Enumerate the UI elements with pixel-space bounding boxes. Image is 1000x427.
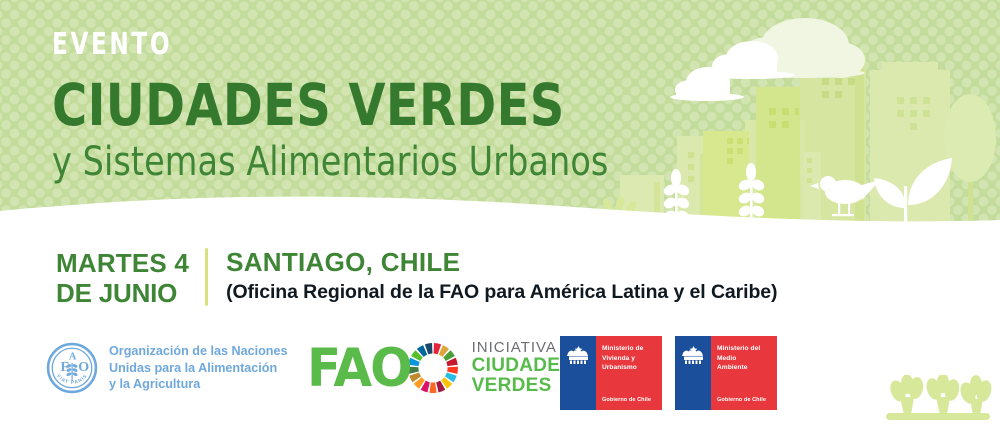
svg-text:O: O (78, 359, 89, 375)
minvu-name: Ministerio de Vivienda y Urbanismo (602, 344, 643, 373)
mma-name-line2: Medio (717, 354, 760, 364)
minvu-name-line2: Vivienda y (602, 354, 643, 364)
logo-strip: F A O FIAT PANIS Organización (0, 330, 1000, 427)
page-subtitle: y Sistemas Alimentarios Urbanos (52, 141, 608, 183)
event-date-line1: MARTES 4 (56, 248, 189, 278)
eyebrow-label: EVENTO (52, 30, 567, 60)
event-city: SANTIAGO, CHILE (226, 247, 777, 277)
fao-un-line3: y la Agricultura (109, 376, 287, 393)
hero-text-block: EVENTO CIUDADES VERDES y Sistemas Alimen… (52, 30, 650, 183)
minvu-name-line3: Urbanismo (602, 363, 643, 373)
seedling-sprouts-decoration (876, 375, 996, 427)
mma-name: Ministerio del Medio Ambiente (717, 344, 760, 373)
green-cities-tagline: INICIATIVA CIUDADES VERDES (472, 340, 574, 397)
hero-section: EVENTO CIUDADES VERDES y Sistemas Alimen… (0, 0, 1000, 232)
sdg-color-wheel-icon (407, 342, 459, 394)
minvu-government-label: Gobierno de Chile (602, 397, 651, 403)
svg-text:A: A (69, 352, 77, 363)
fao-emblem-icon: F A O FIAT PANIS (46, 342, 98, 394)
chile-coat-of-arms-icon (681, 345, 706, 366)
mma-government-label: Gobierno de Chile (717, 397, 766, 403)
ministerio-medio-ambiente-logo: Ministerio del Medio Ambiente Gobierno d… (675, 336, 777, 410)
chile-coat-of-arms-icon (566, 345, 591, 366)
mma-name-line1: Ministerio del (717, 344, 760, 354)
minvu-name-line1: Ministerio de (602, 344, 643, 354)
details-divider (205, 248, 208, 306)
tagline-ciudades: CIUDADES (472, 356, 574, 376)
tagline-verdes: VERDES (472, 376, 574, 396)
fao-un-line2: Unidas para la Alimentación (109, 360, 287, 377)
fao-un-line1: Organización de las Naciones (109, 343, 287, 360)
mma-name-line3: Ambiente (717, 363, 760, 373)
mma-flag: Ministerio del Medio Ambiente Gobierno d… (675, 336, 777, 410)
minvu-flag: Ministerio de Vivienda y Urbanismo Gobie… (560, 336, 662, 410)
event-date-line2: DE JUNIO (56, 278, 189, 308)
tagline-iniciativa: INICIATIVA (472, 340, 574, 356)
tree-right (944, 94, 996, 232)
ministerio-vivienda-urbanismo-logo: Ministerio de Vivienda y Urbanismo Gobie… (560, 336, 662, 410)
event-venue: (Oficina Regional de la FAO para América… (226, 280, 777, 305)
event-date: MARTES 4 DE JUNIO (56, 246, 189, 308)
sdg-wheel-segment (429, 383, 436, 394)
event-details: MARTES 4 DE JUNIO SANTIAGO, CHILE (Ofici… (56, 246, 777, 308)
sdg-wheel-segment (447, 367, 458, 374)
event-location: SANTIAGO, CHILE (Oficina Regional de la … (226, 246, 777, 306)
event-banner: EVENTO CIUDADES VERDES y Sistemas Alimen… (0, 0, 1000, 427)
fao-united-nations-label: Organización de las Naciones Unidas para… (109, 343, 287, 393)
fao-green-cities-initiative-logo: FAO INICIATIVA CIUDADES VERDES (307, 340, 573, 397)
fao-united-nations-logo: F A O FIAT PANIS Organización (46, 342, 287, 394)
fao-wordmark: FAO (307, 342, 411, 395)
page-title: CIUDADES VERDES (52, 76, 602, 135)
